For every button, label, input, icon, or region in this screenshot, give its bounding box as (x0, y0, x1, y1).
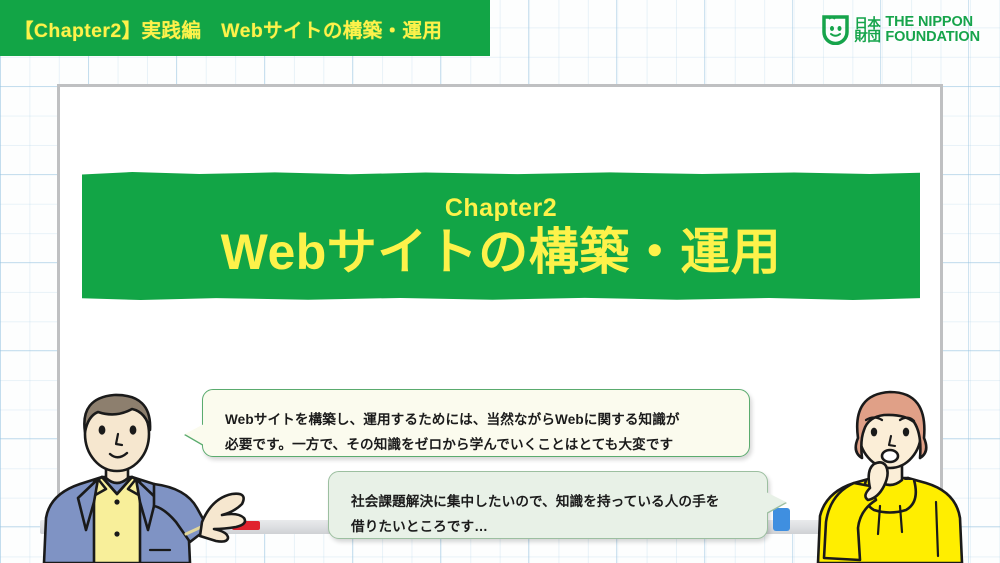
speech-bubble-man-line2: 必要です。一方で、その知識をゼロから学んでいくことはとても大変です (225, 432, 729, 457)
chapter-title: Webサイトの構築・運用 (221, 225, 782, 279)
speech-bubble-woman: 社会課題解決に集中したいので、知識を持っている人の手を 借りたいところです… (328, 471, 768, 539)
logo-jp-line2: 財団 (854, 30, 880, 44)
woman-figure-icon (800, 382, 985, 563)
chapter-header-banner: 【Chapter2】実践編 Webサイトの構築・運用 (0, 0, 490, 56)
chapter-title-block: Chapter2 Webサイトの構築・運用 (82, 172, 920, 300)
man-figure-icon (36, 382, 251, 563)
character-woman-illustration (800, 382, 985, 563)
chapter-header-text: 【Chapter2】実践編 Webサイトの構築・運用 (14, 14, 442, 43)
logo-japanese-text: 日本 財団 (854, 17, 880, 45)
speech-bubble-man-line1: Webサイトを構築し、運用するためには、当然ながらWebに関する知識が (225, 407, 729, 432)
speech-bubble-woman-tail (766, 492, 786, 513)
speech-bubble-man: Webサイトを構築し、運用するためには、当然ながらWebに関する知識が 必要です… (202, 389, 750, 457)
speech-bubble-woman-line1: 社会課題解決に集中したいので、知識を持っている人の手を (351, 489, 747, 514)
chapter-subtitle: Chapter2 (445, 194, 557, 223)
speech-bubble-woman-line2: 借りたいところです… (351, 514, 747, 539)
nippon-foundation-logo: 日本 財団 THE NIPPON FOUNDATION (822, 15, 980, 46)
logo-en-line1: THE NIPPON (885, 15, 980, 30)
logo-en-line2: FOUNDATION (885, 30, 980, 45)
nippon-foundation-mark-icon (822, 15, 849, 45)
slide-canvas: 【Chapter2】実践編 Webサイトの構築・運用 日本 財団 THE NIP… (0, 0, 1000, 563)
character-man-illustration (36, 382, 251, 563)
logo-english-text: THE NIPPON FOUNDATION (885, 15, 980, 46)
